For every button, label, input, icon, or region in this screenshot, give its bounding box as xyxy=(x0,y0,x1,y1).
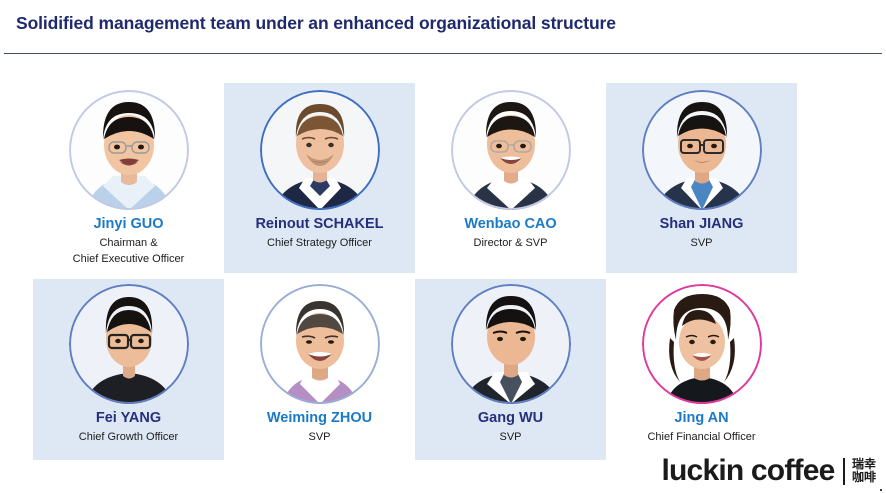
logo-chinese-text: 瑞幸 咖啡 xyxy=(852,458,876,485)
avatar xyxy=(260,90,380,210)
avatar xyxy=(69,284,189,404)
logo-wordmark: luckin coffee xyxy=(662,456,835,486)
person-title: Director & SVP xyxy=(474,236,548,252)
person-name: Jinyi GUO xyxy=(93,216,163,233)
person-card[interactable]: Wenbao CAO Director & SVP xyxy=(415,83,606,273)
portrait-fei-yang-image xyxy=(69,284,189,404)
logo-separator xyxy=(843,458,845,485)
person-card[interactable]: Shan JIANG SVP xyxy=(606,83,797,273)
management-row-2: Fei YANG Chief Growth Officer xyxy=(0,279,886,460)
luckin-coffee-logo: luckin coffee 瑞幸 咖啡 xyxy=(662,454,877,488)
person-title: Chief Strategy Officer xyxy=(267,236,372,252)
person-card[interactable]: Gang WU SVP xyxy=(415,279,606,460)
management-row-1: Jinyi GUO Chairman & Chief Executive Off… xyxy=(0,83,886,273)
person-card[interactable]: Reinout SCHAKEL Chief Strategy Officer xyxy=(224,83,415,273)
person-card[interactable]: Fei YANG Chief Growth Officer xyxy=(33,279,224,460)
person-name: Fei YANG xyxy=(96,410,161,427)
person-name: Reinout SCHAKEL xyxy=(255,216,383,233)
page-title: Solidified management team under an enha… xyxy=(16,13,616,34)
person-card[interactable]: Jinyi GUO Chairman & Chief Executive Off… xyxy=(33,83,224,273)
portrait-gang-wu-image xyxy=(451,284,571,404)
avatar xyxy=(642,284,762,404)
portrait-weiming-zhou-image xyxy=(260,284,380,404)
person-name: Wenbao CAO xyxy=(464,216,556,233)
logo-chinese-line-2: 咖啡 xyxy=(852,471,876,484)
person-name: Jing AN xyxy=(674,410,728,427)
person-title: Chief Financial Officer xyxy=(647,430,755,446)
avatar xyxy=(451,90,571,210)
person-title: SVP xyxy=(308,430,330,446)
logo-chinese-line-1: 瑞幸 xyxy=(852,458,876,471)
title-divider xyxy=(4,53,882,54)
person-title: SVP xyxy=(690,236,712,252)
portrait-wenbao-cao-image xyxy=(451,90,571,210)
person-title: Chairman & Chief Executive Officer xyxy=(73,236,185,267)
person-card[interactable]: Jing AN Chief Financial Officer xyxy=(606,279,797,460)
avatar xyxy=(260,284,380,404)
portrait-jing-an-image xyxy=(642,284,762,404)
portrait-shan-jiang-image xyxy=(642,90,762,210)
person-name: Weiming ZHOU xyxy=(267,410,372,427)
person-title: Chief Growth Officer xyxy=(79,430,178,446)
person-card[interactable]: Weiming ZHOU SVP xyxy=(224,279,415,460)
avatar xyxy=(451,284,571,404)
person-name: Gang WU xyxy=(478,410,543,427)
person-title: SVP xyxy=(499,430,521,446)
portrait-reinout-schakel-image xyxy=(260,90,380,210)
portrait-jinyi-guo-image xyxy=(69,90,189,210)
corner-dot-marker xyxy=(880,489,882,491)
avatar xyxy=(69,90,189,210)
avatar xyxy=(642,90,762,210)
person-name: Shan JIANG xyxy=(660,216,744,233)
